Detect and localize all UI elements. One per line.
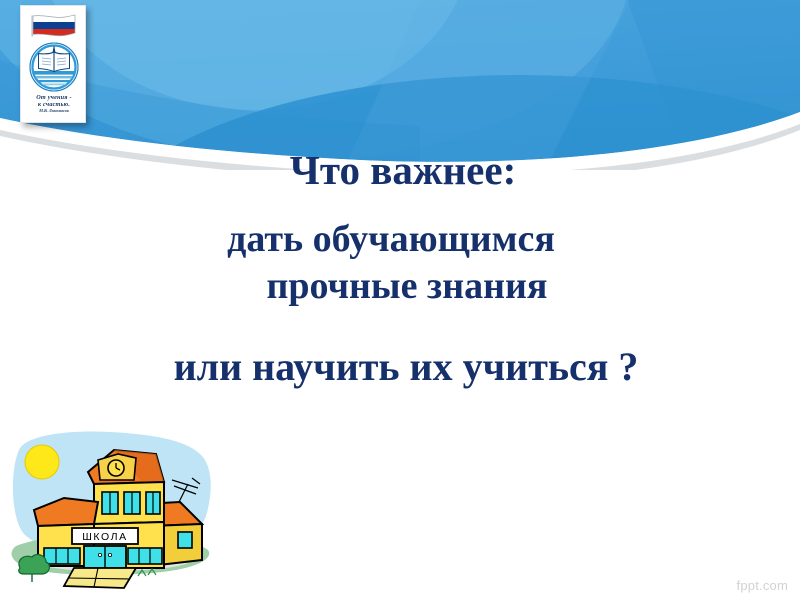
entrance-doors xyxy=(84,546,126,568)
upper-windows xyxy=(102,492,160,514)
top-blue-banner xyxy=(0,0,800,170)
sun-icon xyxy=(25,445,59,479)
school-sign-text: ШКОЛА xyxy=(82,531,128,543)
headline-line-1: Что важнее: xyxy=(6,150,800,191)
open-book-emblem-icon xyxy=(26,41,82,95)
school-building-clipart: ШКОЛА xyxy=(2,426,230,594)
fppt-watermark: fppt.com xyxy=(737,578,788,593)
school-sign: ШКОЛА xyxy=(72,528,138,544)
lower-right-windows xyxy=(128,548,162,564)
headline-line-3: прочные знания xyxy=(14,267,800,305)
motto-line-1: От учения - xyxy=(24,94,84,101)
motto-author: М.В. Ломоносов xyxy=(24,109,84,114)
bush-icon xyxy=(19,555,50,582)
banner-graphic xyxy=(0,0,800,170)
headline-line-2: дать обучающимся xyxy=(0,220,800,258)
banner-arcs xyxy=(0,0,800,170)
logo-motto: От учения - к счастью. М.В. Ломоносов xyxy=(24,94,84,122)
school-logo-card: От учения - к счастью. М.В. Ломоносов xyxy=(20,5,86,123)
headline-line-4: или научить их учиться ? xyxy=(12,347,800,387)
russian-flag-icon xyxy=(30,14,77,40)
lower-left-windows xyxy=(44,548,80,564)
slide-canvas: От учения - к счастью. М.В. Ломоносов Чт… xyxy=(0,0,800,600)
right-wing-window xyxy=(178,532,192,548)
headline-block: Что важнее: дать обучающимся прочные зна… xyxy=(0,150,800,387)
